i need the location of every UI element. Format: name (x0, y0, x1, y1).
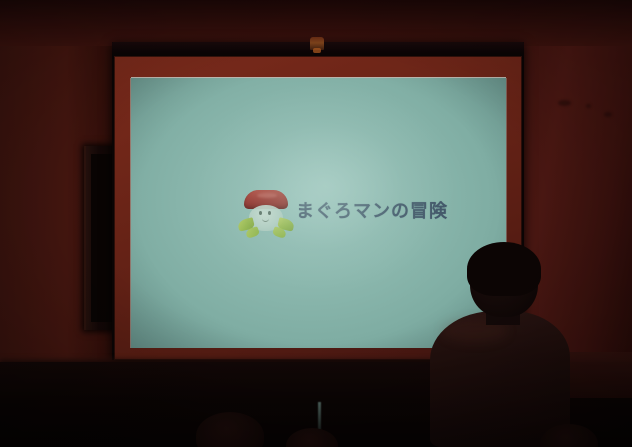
mascot-eye-right-icon (268, 211, 271, 215)
slide-title: まぐろマンの冒険 (296, 197, 448, 223)
wall-mark-icon (558, 100, 571, 106)
person-hair (467, 242, 541, 296)
framed-picture-canvas (91, 154, 112, 322)
screen-hook-highlight-icon (313, 48, 321, 53)
wall-mark-icon (604, 112, 612, 117)
wall-mark-icon (586, 104, 591, 108)
mascot-cap-highlight (257, 193, 277, 198)
photo-scene: まぐろマンの冒険 (0, 0, 632, 447)
maguro-man-mascot-icon (238, 190, 294, 238)
mascot-eye-left-icon (259, 211, 262, 215)
standing-person-silhouette (424, 245, 574, 447)
